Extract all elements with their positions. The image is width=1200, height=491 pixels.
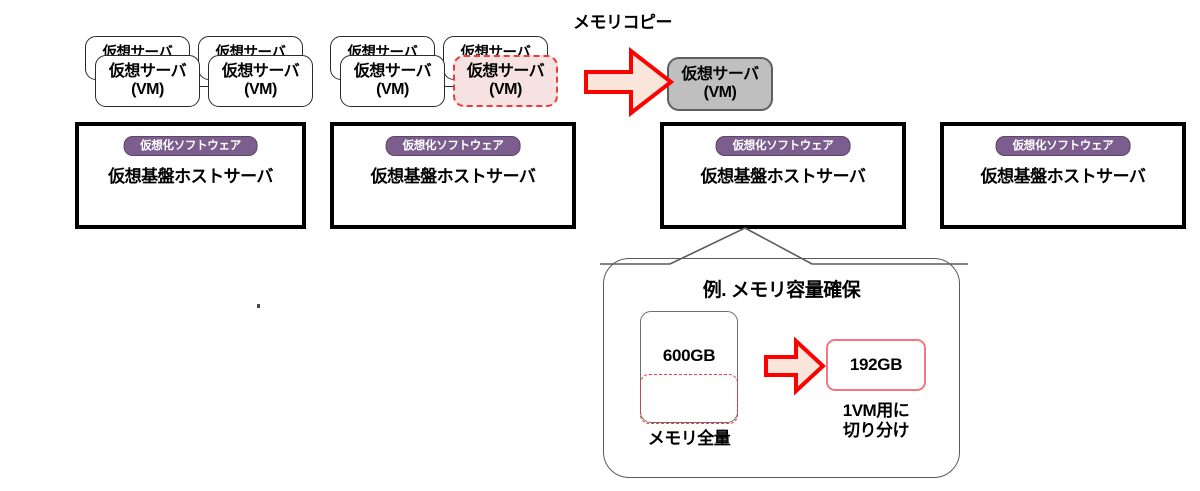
callout-leader-lines <box>600 226 970 268</box>
host-4-hypervisor-badge: 仮想化ソフトウェア <box>996 136 1131 156</box>
vm-box-1[interactable]: 仮想サーバ (VM) <box>95 55 200 107</box>
vm-label-line2-4: (VM) <box>489 81 522 99</box>
host-3-hypervisor-badge: 仮想化ソフトウェア <box>716 136 851 156</box>
vm-label-line1-5: 仮想サーバ <box>681 66 758 84</box>
host-server-2[interactable]: 仮想化ソフトウェア 仮想基盤ホストサーバ <box>330 122 576 229</box>
allocated-memory-label-line1: 1VM用に <box>816 401 936 421</box>
callout-title: 例. メモリ容量確保 <box>604 275 959 302</box>
total-memory-value: 600GB <box>641 346 737 366</box>
allocated-memory-label-line2: 切り分け <box>816 421 936 441</box>
memory-split-arrow-icon <box>764 337 826 395</box>
vm-label-line1-4: 仮想サーバ <box>467 63 544 81</box>
vm-label-line2-2: (VM) <box>244 81 277 99</box>
memory-capacity-callout: 例. メモリ容量確保 600GB メモリ全量 192GB 1VM用に 切り分け <box>603 258 960 478</box>
total-memory-label: メモリ全量 <box>626 429 752 449</box>
vm-label-line1-3: 仮想サーバ <box>354 63 431 81</box>
host-2-title: 仮想基盤ホストサーバ <box>334 162 572 187</box>
allocated-memory-value: 192GB <box>850 355 902 375</box>
stray-mark <box>257 304 260 308</box>
diagram-canvas: 仮想サーバ 仮想サーバ (VM) 仮想サーバ 仮想サーバ (VM) 仮想化ソフト… <box>0 0 1200 491</box>
host-server-4[interactable]: 仮想化ソフトウェア 仮想基盤ホストサーバ <box>940 122 1186 229</box>
host-1-title: 仮想基盤ホストサーバ <box>79 162 302 187</box>
vm-box-2[interactable]: 仮想サーバ (VM) <box>208 55 313 107</box>
host-1-hypervisor-badge: 仮想化ソフトウェア <box>123 136 258 156</box>
vm-box-5-migrated[interactable]: 仮想サーバ (VM) <box>667 57 773 111</box>
vm-label-line2-5: (VM) <box>704 84 737 102</box>
vm-box-4-highlighted[interactable]: 仮想サーバ (VM) <box>453 55 558 107</box>
memory-copy-arrow-icon <box>583 46 675 118</box>
allocated-memory-label: 1VM用に 切り分け <box>816 401 936 440</box>
vm-label-line2-3: (VM) <box>376 81 409 99</box>
reserved-memory-slice <box>640 374 738 424</box>
allocated-memory-box: 192GB <box>826 339 926 391</box>
host-2-hypervisor-badge: 仮想化ソフトウェア <box>386 136 521 156</box>
host-server-3[interactable]: 仮想化ソフトウェア 仮想基盤ホストサーバ <box>660 122 906 229</box>
memory-copy-label: メモリコピー <box>573 8 672 33</box>
vm-label-line2-1: (VM) <box>131 81 164 99</box>
vm-label-line1-1: 仮想サーバ <box>109 63 186 81</box>
total-memory-bar: 600GB <box>640 311 738 423</box>
vm-label-line1-2: 仮想サーバ <box>222 63 299 81</box>
host-4-title: 仮想基盤ホストサーバ <box>944 162 1182 187</box>
host-server-1[interactable]: 仮想化ソフトウェア 仮想基盤ホストサーバ <box>75 122 306 229</box>
vm-box-3[interactable]: 仮想サーバ (VM) <box>340 55 445 107</box>
host-3-title: 仮想基盤ホストサーバ <box>664 162 902 187</box>
